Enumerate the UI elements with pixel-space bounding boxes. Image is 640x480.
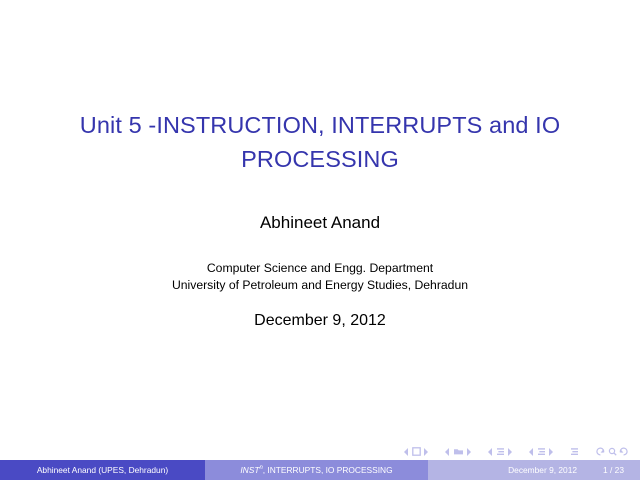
slide-date: December 9, 2012 xyxy=(0,312,640,330)
footer-author-section: Abhineet Anand (UPES, Dehradun) xyxy=(0,460,205,480)
footer-author-label: Abhineet Anand (UPES, Dehradun) xyxy=(37,465,168,475)
back-icon[interactable] xyxy=(596,447,605,456)
title-line-2: PROCESSING xyxy=(241,146,399,172)
next-subsection-icon[interactable] xyxy=(507,448,512,456)
previous-frame-icon[interactable] xyxy=(445,448,450,456)
next-slide-icon[interactable] xyxy=(423,448,428,456)
subsection-marker-icon[interactable] xyxy=(496,447,505,456)
frame-navigation-group[interactable] xyxy=(445,447,471,456)
footer-meta-section: December 9, 2012 1 / 23 xyxy=(428,460,640,480)
page-title: Unit 5 -INSTRUCTION, INTERRUPTS and IO P… xyxy=(60,108,580,176)
history-navigation-group[interactable] xyxy=(596,447,628,456)
previous-section-icon[interactable] xyxy=(529,448,534,456)
search-icon[interactable] xyxy=(608,447,617,456)
title-line-1: Unit 5 -INSTRUCTION, INTERRUPTS and IO xyxy=(80,112,560,138)
navigation-symbols[interactable] xyxy=(404,447,628,456)
next-frame-icon[interactable] xyxy=(466,448,471,456)
footer-title-prefix: INST xyxy=(240,465,259,475)
slide-marker-icon[interactable] xyxy=(412,447,421,456)
previous-subsection-icon[interactable] xyxy=(488,448,493,456)
footer-title-section: INSTn, INTERRUPTS, IO PROCESSING xyxy=(205,460,428,480)
institute-block: Computer Science and Engg. Department Un… xyxy=(0,260,640,293)
institute-university: University of Petroleum and Energy Studi… xyxy=(0,277,640,294)
forward-icon[interactable] xyxy=(619,447,628,456)
subsection-navigation-group[interactable] xyxy=(488,447,512,456)
footer-title-rest: , INTERRUPTS, IO PROCESSING xyxy=(263,465,393,475)
institute-department: Computer Science and Engg. Department xyxy=(0,260,640,277)
document-icon[interactable] xyxy=(570,447,579,456)
next-section-icon[interactable] xyxy=(548,448,553,456)
first-slide-icon[interactable] xyxy=(404,448,409,456)
footer-date-label: December 9, 2012 xyxy=(508,465,577,475)
author-name: Abhineet Anand xyxy=(0,212,640,234)
slide-navigation-group[interactable] xyxy=(404,447,428,456)
footer-page-number: 1 / 23 xyxy=(603,465,624,475)
section-marker-icon[interactable] xyxy=(537,447,546,456)
presentation-slide: Unit 5 -INSTRUCTION, INTERRUPTS and IO P… xyxy=(0,0,640,480)
section-navigation-group[interactable] xyxy=(529,447,553,456)
footer-title-label: INSTn, INTERRUPTS, IO PROCESSING xyxy=(240,465,392,475)
footer-bar: Abhineet Anand (UPES, Dehradun) INSTn, I… xyxy=(0,460,640,480)
title-block: Unit 5 -INSTRUCTION, INTERRUPTS and IO P… xyxy=(0,108,640,176)
author-block: Abhineet Anand Computer Science and Engg… xyxy=(0,212,640,293)
frame-marker-icon[interactable] xyxy=(453,447,464,456)
